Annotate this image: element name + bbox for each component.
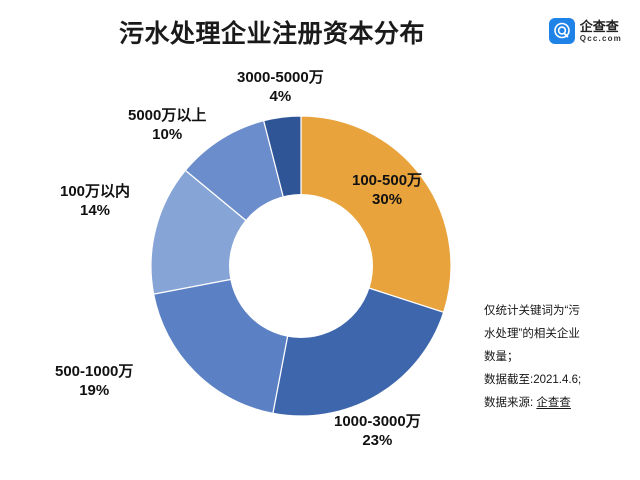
slice-label-category: 100-500万 bbox=[352, 171, 422, 190]
footnote-block: 仅统计关键词为“污 水处理”的相关企业 数量； 数据截至:2021.4.6; 数… bbox=[484, 300, 630, 415]
brand-text: 企查查 Qcc.com bbox=[580, 20, 622, 43]
brand-domain: Qcc.com bbox=[580, 35, 622, 43]
slice-label-500-1000: 500-1000万 19% bbox=[55, 362, 133, 400]
page-title: 污水处理企业注册资本分布 bbox=[0, 14, 640, 50]
slice-label-100-within: 100万以内 14% bbox=[60, 182, 130, 220]
slice-label-100-500: 100-500万 30% bbox=[352, 171, 422, 209]
footnote-line-3: 数量； bbox=[484, 346, 630, 369]
slice-label-5000-above: 5000万以上 10% bbox=[128, 106, 206, 144]
footnote-line-1: 仅统计关键词为“污 bbox=[484, 300, 630, 323]
footnote-line-4: 数据截至:2021.4.6; bbox=[484, 369, 630, 392]
slice-label-percent: 4% bbox=[237, 87, 324, 106]
qcc-logo-icon bbox=[549, 18, 575, 44]
slice-label-3000-5000: 3000-5000万 4% bbox=[237, 68, 324, 106]
slice-label-category: 3000-5000万 bbox=[237, 68, 324, 87]
slice-label-percent: 30% bbox=[352, 190, 422, 209]
donut-hole bbox=[229, 194, 373, 338]
slice-label-percent: 19% bbox=[55, 381, 133, 400]
footnote-line-5: 数据来源: 企查查 bbox=[484, 392, 630, 415]
slice-label-percent: 14% bbox=[60, 201, 130, 220]
slice-label-category: 100万以内 bbox=[60, 182, 130, 201]
chart-header: 污水处理企业注册资本分布 企查查 Qcc.com bbox=[0, 0, 640, 62]
brand-logo: 企查查 Qcc.com bbox=[549, 18, 622, 44]
slice-label-percent: 10% bbox=[128, 125, 206, 144]
slice-label-category: 1000-3000万 bbox=[334, 412, 421, 431]
chart-page: 污水处理企业注册资本分布 企查查 Qcc.com 100-500万 30 bbox=[0, 0, 640, 480]
footnote-source-name: 企查查 bbox=[536, 397, 571, 409]
donut-chart: 100-500万 30% 1000-3000万 23% 500-1000万 19… bbox=[0, 62, 640, 480]
footnote-line-2: 水处理”的相关企业 bbox=[484, 323, 630, 346]
slice-label-category: 5000万以上 bbox=[128, 106, 206, 125]
slice-label-percent: 23% bbox=[334, 431, 421, 450]
footnote-source-prefix: 数据来源: bbox=[484, 397, 533, 409]
brand-name: 企查查 bbox=[580, 20, 622, 33]
slice-label-category: 500-1000万 bbox=[55, 362, 133, 381]
donut-chart-svg bbox=[0, 62, 640, 480]
slice-label-1000-3000: 1000-3000万 23% bbox=[334, 412, 421, 450]
